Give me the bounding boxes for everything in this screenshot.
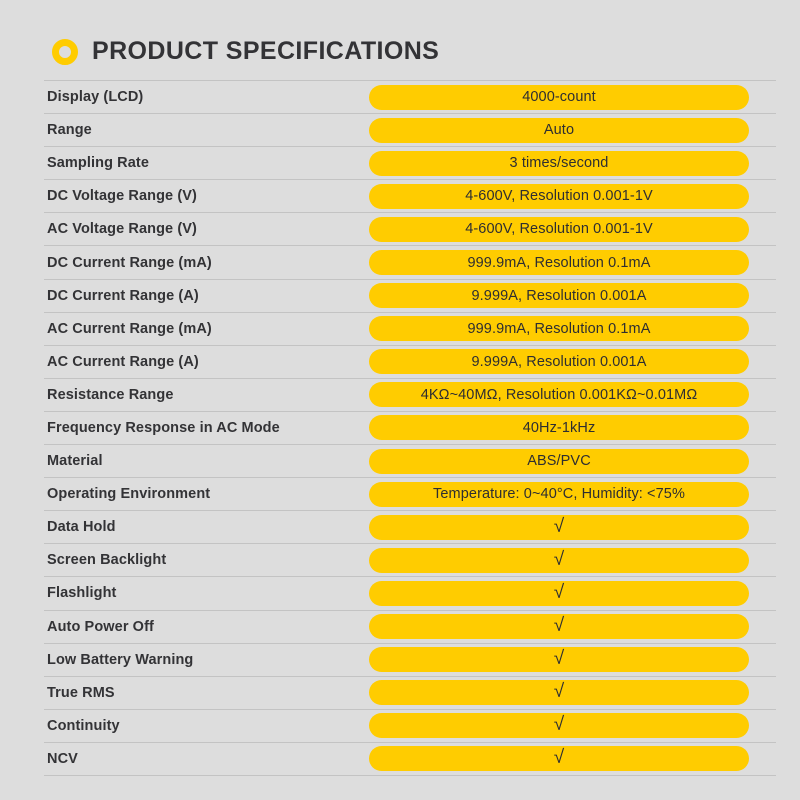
- table-row: Display (LCD)4000-count: [44, 80, 776, 113]
- spec-value-pill: Auto: [369, 118, 749, 143]
- check-icon: √: [369, 614, 749, 639]
- table-row: MaterialABS/PVC: [44, 444, 776, 477]
- spec-label: DC Current Range (A): [44, 288, 369, 304]
- spec-label: Auto Power Off: [44, 619, 369, 635]
- spec-value-pill: 9.999A, Resolution 0.001A: [369, 283, 749, 308]
- table-row: True RMS√: [44, 676, 776, 709]
- ring-icon: [52, 39, 78, 65]
- spec-label: Flashlight: [44, 585, 369, 601]
- page-title: PRODUCT SPECIFICATIONS: [92, 39, 439, 64]
- spec-value-cell: 4000-count: [369, 81, 776, 113]
- spec-value-pill: 999.9mA, Resolution 0.1mA: [369, 316, 749, 341]
- check-icon: √: [369, 680, 749, 705]
- spec-label: Operating Environment: [44, 486, 369, 502]
- spec-value-cell: 4-600V, Resolution 0.001-1V: [369, 213, 776, 245]
- table-row: Low Battery Warning√: [44, 643, 776, 676]
- spec-value-pill: 4000-count: [369, 85, 749, 110]
- spec-value-pill: 999.9mA, Resolution 0.1mA: [369, 250, 749, 275]
- spec-label: Display (LCD): [44, 89, 369, 105]
- spec-label: Frequency Response in AC Mode: [44, 420, 369, 436]
- spec-label: Resistance Range: [44, 387, 369, 403]
- spec-value-cell: 4KΩ~40MΩ, Resolution 0.001KΩ~0.01MΩ: [369, 379, 776, 411]
- table-row: Operating EnvironmentTemperature: 0~40°C…: [44, 477, 776, 510]
- spec-value-pill: 4KΩ~40MΩ, Resolution 0.001KΩ~0.01MΩ: [369, 382, 749, 407]
- check-icon: √: [369, 713, 749, 738]
- table-row: AC Voltage Range (V)4-600V, Resolution 0…: [44, 212, 776, 245]
- table-row: Data Hold√: [44, 510, 776, 543]
- spec-label: Range: [44, 122, 369, 138]
- header: PRODUCT SPECIFICATIONS: [0, 0, 800, 71]
- table-row: DC Current Range (mA)999.9mA, Resolution…: [44, 245, 776, 278]
- spec-value-cell: 999.9mA, Resolution 0.1mA: [369, 246, 776, 278]
- spec-label: True RMS: [44, 685, 369, 701]
- spec-label: Low Battery Warning: [44, 652, 369, 668]
- spec-value-pill: 4-600V, Resolution 0.001-1V: [369, 184, 749, 209]
- check-icon: √: [369, 515, 749, 540]
- spec-value-cell: 999.9mA, Resolution 0.1mA: [369, 313, 776, 345]
- spec-value-cell: √: [369, 544, 776, 576]
- spec-value-cell: √: [369, 743, 776, 775]
- check-icon: √: [369, 746, 749, 771]
- spec-label: Screen Backlight: [44, 552, 369, 568]
- check-icon: √: [369, 581, 749, 606]
- check-icon: √: [369, 548, 749, 573]
- spec-value-pill: ABS/PVC: [369, 449, 749, 474]
- spec-value-cell: 9.999A, Resolution 0.001A: [369, 346, 776, 378]
- spec-label: Continuity: [44, 718, 369, 734]
- spec-value-cell: √: [369, 710, 776, 742]
- table-row: Resistance Range4KΩ~40MΩ, Resolution 0.0…: [44, 378, 776, 411]
- spec-value-cell: √: [369, 511, 776, 543]
- table-row: AC Current Range (A)9.999A, Resolution 0…: [44, 345, 776, 378]
- table-row: Auto Power Off√: [44, 610, 776, 643]
- table-row: Screen Backlight√: [44, 543, 776, 576]
- spec-label: Sampling Rate: [44, 155, 369, 171]
- table-row: NCV√: [44, 742, 776, 776]
- spec-table: Display (LCD)4000-countRangeAutoSampling…: [44, 80, 776, 776]
- spec-label: Data Hold: [44, 519, 369, 535]
- spec-value-pill: 3 times/second: [369, 151, 749, 176]
- spec-value-cell: 3 times/second: [369, 147, 776, 179]
- table-row: DC Voltage Range (V)4-600V, Resolution 0…: [44, 179, 776, 212]
- spec-label: AC Current Range (A): [44, 354, 369, 370]
- spec-label: DC Voltage Range (V): [44, 188, 369, 204]
- spec-value-cell: √: [369, 644, 776, 676]
- spec-value-cell: √: [369, 577, 776, 609]
- spec-value-pill: 9.999A, Resolution 0.001A: [369, 349, 749, 374]
- table-row: Flashlight√: [44, 576, 776, 609]
- spec-value-pill: 4-600V, Resolution 0.001-1V: [369, 217, 749, 242]
- spec-value-cell: Temperature: 0~40°C, Humidity: <75%: [369, 478, 776, 510]
- spec-label: AC Current Range (mA): [44, 321, 369, 337]
- spec-value-cell: 40Hz-1kHz: [369, 412, 776, 444]
- spec-label: Material: [44, 453, 369, 469]
- spec-value-cell: √: [369, 677, 776, 709]
- table-row: AC Current Range (mA)999.9mA, Resolution…: [44, 312, 776, 345]
- spec-label: DC Current Range (mA): [44, 255, 369, 271]
- spec-value-cell: 4-600V, Resolution 0.001-1V: [369, 180, 776, 212]
- table-row: Continuity√: [44, 709, 776, 742]
- table-row: Sampling Rate3 times/second: [44, 146, 776, 179]
- table-row: Frequency Response in AC Mode40Hz-1kHz: [44, 411, 776, 444]
- spec-label: NCV: [44, 751, 369, 767]
- spec-value-cell: √: [369, 611, 776, 643]
- check-icon: √: [369, 647, 749, 672]
- spec-value-cell: Auto: [369, 114, 776, 146]
- product-specifications-sheet: PRODUCT SPECIFICATIONS Display (LCD)4000…: [0, 0, 800, 800]
- table-row: RangeAuto: [44, 113, 776, 146]
- spec-value-pill: 40Hz-1kHz: [369, 415, 749, 440]
- spec-label: AC Voltage Range (V): [44, 221, 369, 237]
- spec-value-pill: Temperature: 0~40°C, Humidity: <75%: [369, 482, 749, 507]
- spec-value-cell: ABS/PVC: [369, 445, 776, 477]
- spec-value-cell: 9.999A, Resolution 0.001A: [369, 280, 776, 312]
- table-row: DC Current Range (A)9.999A, Resolution 0…: [44, 279, 776, 312]
